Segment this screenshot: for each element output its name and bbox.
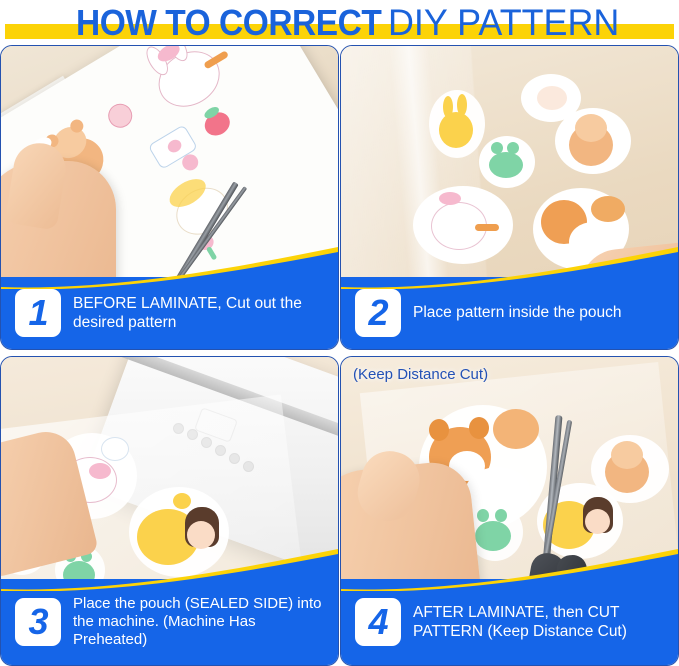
page-header: HOW TO CORRECT DIY PATTERN — [0, 0, 679, 45]
step-1-number: 1 — [28, 295, 47, 331]
step-1-number-badge: 1 — [15, 289, 61, 337]
step-2-caption-bar: 2 Place pattern inside the pouch — [341, 277, 678, 349]
step-1-caption-bar: 1 BEFORE LAMINATE, Cut out the desired p… — [1, 277, 338, 349]
page-title: HOW TO CORRECT DIY PATTERN — [0, 0, 679, 45]
step-4-caption-text: AFTER LAMINATE, then CUT PATTERN (Keep D… — [413, 603, 668, 641]
step-1-caption-text: BEFORE LAMINATE, Cut out the desired pat… — [73, 294, 328, 332]
step-2-number: 2 — [368, 295, 387, 331]
step-4-number: 4 — [368, 604, 387, 640]
page-title-strong: HOW TO CORRECT — [76, 5, 381, 41]
step-3-caption-text: Place the pouch (SEALED SIDE) into the m… — [73, 595, 328, 650]
step-panel-4: (Keep Distance Cut) 4 AFTER LAMINATE, th… — [340, 356, 679, 666]
step-panel-2: 2 Place pattern inside the pouch — [340, 45, 679, 350]
step-panel-1: 1 BEFORE LAMINATE, Cut out the desired p… — [0, 45, 339, 350]
step-3-number: 3 — [28, 604, 47, 640]
step-4-caption-bar: 4 AFTER LAMINATE, then CUT PATTERN (Keep… — [341, 579, 678, 665]
step-2-number-badge: 2 — [355, 289, 401, 337]
step-3-number-badge: 3 — [15, 598, 61, 646]
step-4-overlay-note: (Keep Distance Cut) — [353, 366, 488, 383]
step-panel-3: 3 Place the pouch (SEALED SIDE) into the… — [0, 356, 339, 666]
step-2-caption-text: Place pattern inside the pouch — [413, 303, 622, 322]
step-4-number-badge: 4 — [355, 598, 401, 646]
steps-grid: 1 BEFORE LAMINATE, Cut out the desired p… — [0, 45, 679, 666]
infographic-page: HOW TO CORRECT DIY PATTERN — [0, 0, 679, 666]
page-title-light: DIY PATTERN — [388, 4, 619, 41]
step-3-caption-bar: 3 Place the pouch (SEALED SIDE) into the… — [1, 579, 338, 665]
